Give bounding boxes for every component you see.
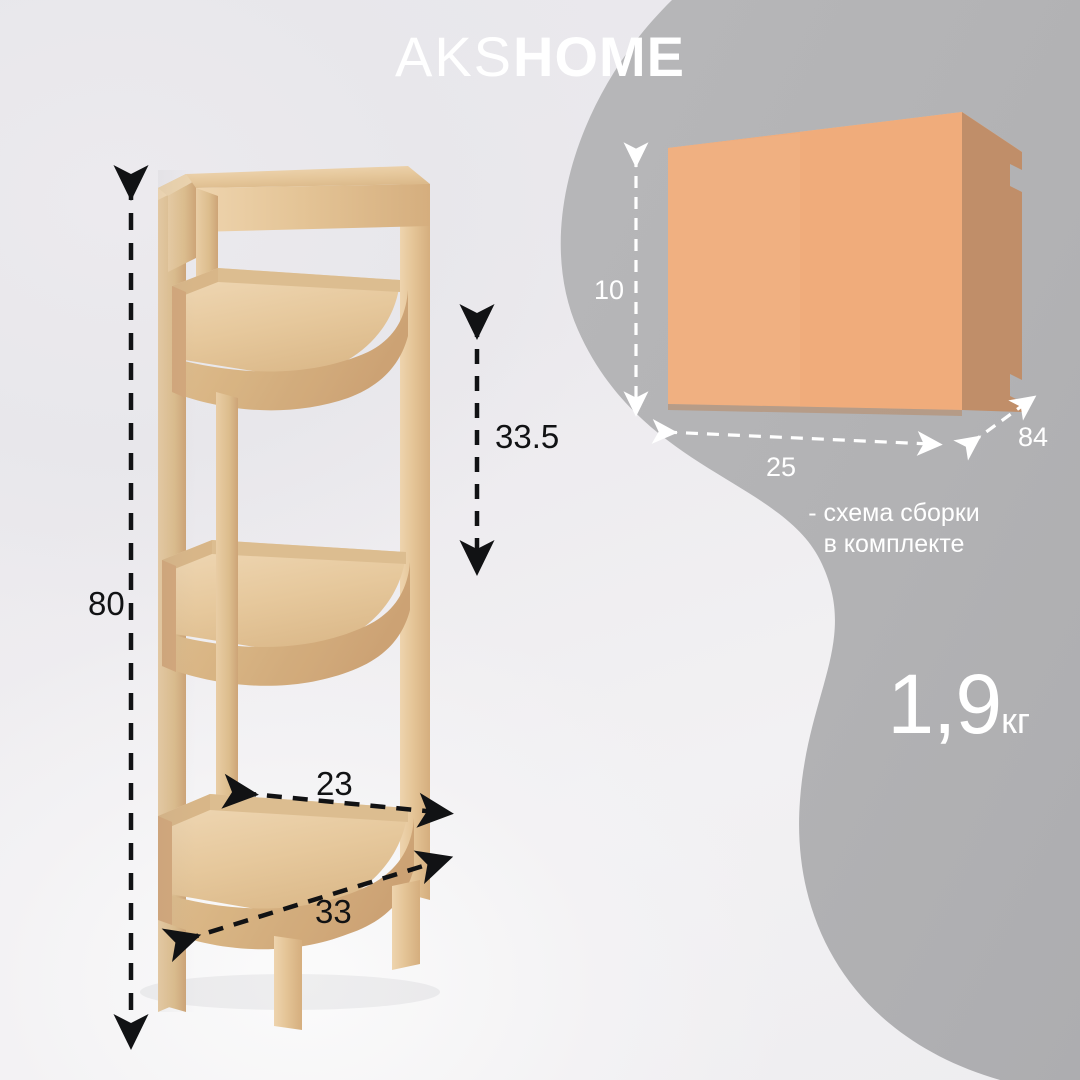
kit-note-line-1: - схема сборки: [744, 498, 1044, 529]
package-height-label: 10: [594, 275, 624, 306]
dimension-label-side-width: 23: [316, 765, 353, 803]
package-width-label: 25: [766, 452, 796, 483]
kit-note-line-2: в комплекте: [744, 529, 1044, 560]
product-photo: [100, 140, 520, 1040]
weight-unit: кг: [1001, 700, 1030, 741]
brand-logo: AKSHOME: [0, 26, 1080, 88]
box-top-face: [668, 112, 1022, 182]
dimension-label-shelf-gap: 33.5: [495, 418, 559, 456]
package-width-line: [665, 432, 930, 444]
dimension-label-height: 80: [88, 585, 125, 623]
bamboo-corner-shelf-illustration: [100, 140, 520, 1040]
box-bottom-edge: [668, 404, 962, 416]
infographic-canvas: AKSHOME: [0, 0, 1080, 1080]
weight-value: 1,9: [887, 657, 1001, 751]
box-side-face: [962, 112, 1022, 412]
dimension-label-front-span: 33: [315, 893, 352, 931]
logo-home: HOME: [513, 25, 685, 88]
box-front-face: [668, 112, 962, 410]
product-weight: 1,9кг: [700, 662, 1030, 746]
logo-aks: AKS: [395, 25, 513, 88]
package-depth-label: 84: [1018, 422, 1048, 453]
assembly-kit-note: - схема сборки в комплекте: [744, 498, 1044, 560]
